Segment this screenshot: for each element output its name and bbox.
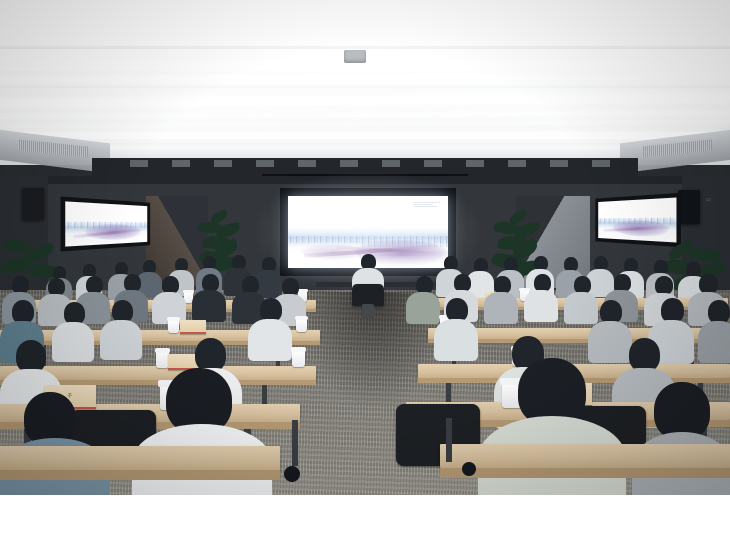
table-front-left (0, 446, 280, 470)
name-placard-r4 (180, 320, 206, 334)
page-bottom-margin (0, 495, 730, 548)
teacup-r4-b (296, 319, 307, 332)
person-r4-5 (152, 276, 186, 320)
person-r4-11 (484, 276, 518, 320)
person-r4-6 (192, 274, 226, 318)
screenshot-root: ▭ (0, 0, 730, 548)
person-r3-4 (248, 298, 292, 356)
ceiling (0, 0, 730, 165)
wall-room-sign: ▭ (706, 197, 711, 203)
screen-watermark-logo (414, 202, 440, 208)
person-r3-5 (434, 298, 478, 356)
person-r3-3 (100, 300, 142, 356)
table-front-right (440, 444, 730, 468)
person-front-4 (632, 382, 730, 495)
chair-caster-left (284, 466, 300, 482)
person-r4-12 (524, 274, 558, 318)
chair-caster-right (462, 462, 476, 476)
right-side-screen[interactable] (598, 198, 676, 243)
wall-speaker-right (678, 190, 700, 224)
person-r3-8 (698, 300, 730, 358)
conference-room-photo: ▭ (0, 0, 730, 495)
left-side-screen[interactable] (65, 201, 147, 246)
chair-far-1[interactable] (352, 284, 384, 306)
wall-speaker-left (22, 188, 44, 220)
teacup-r3-b (292, 351, 305, 367)
teacup-r4-a (168, 320, 179, 333)
ceiling-speaker-icon (344, 50, 366, 63)
